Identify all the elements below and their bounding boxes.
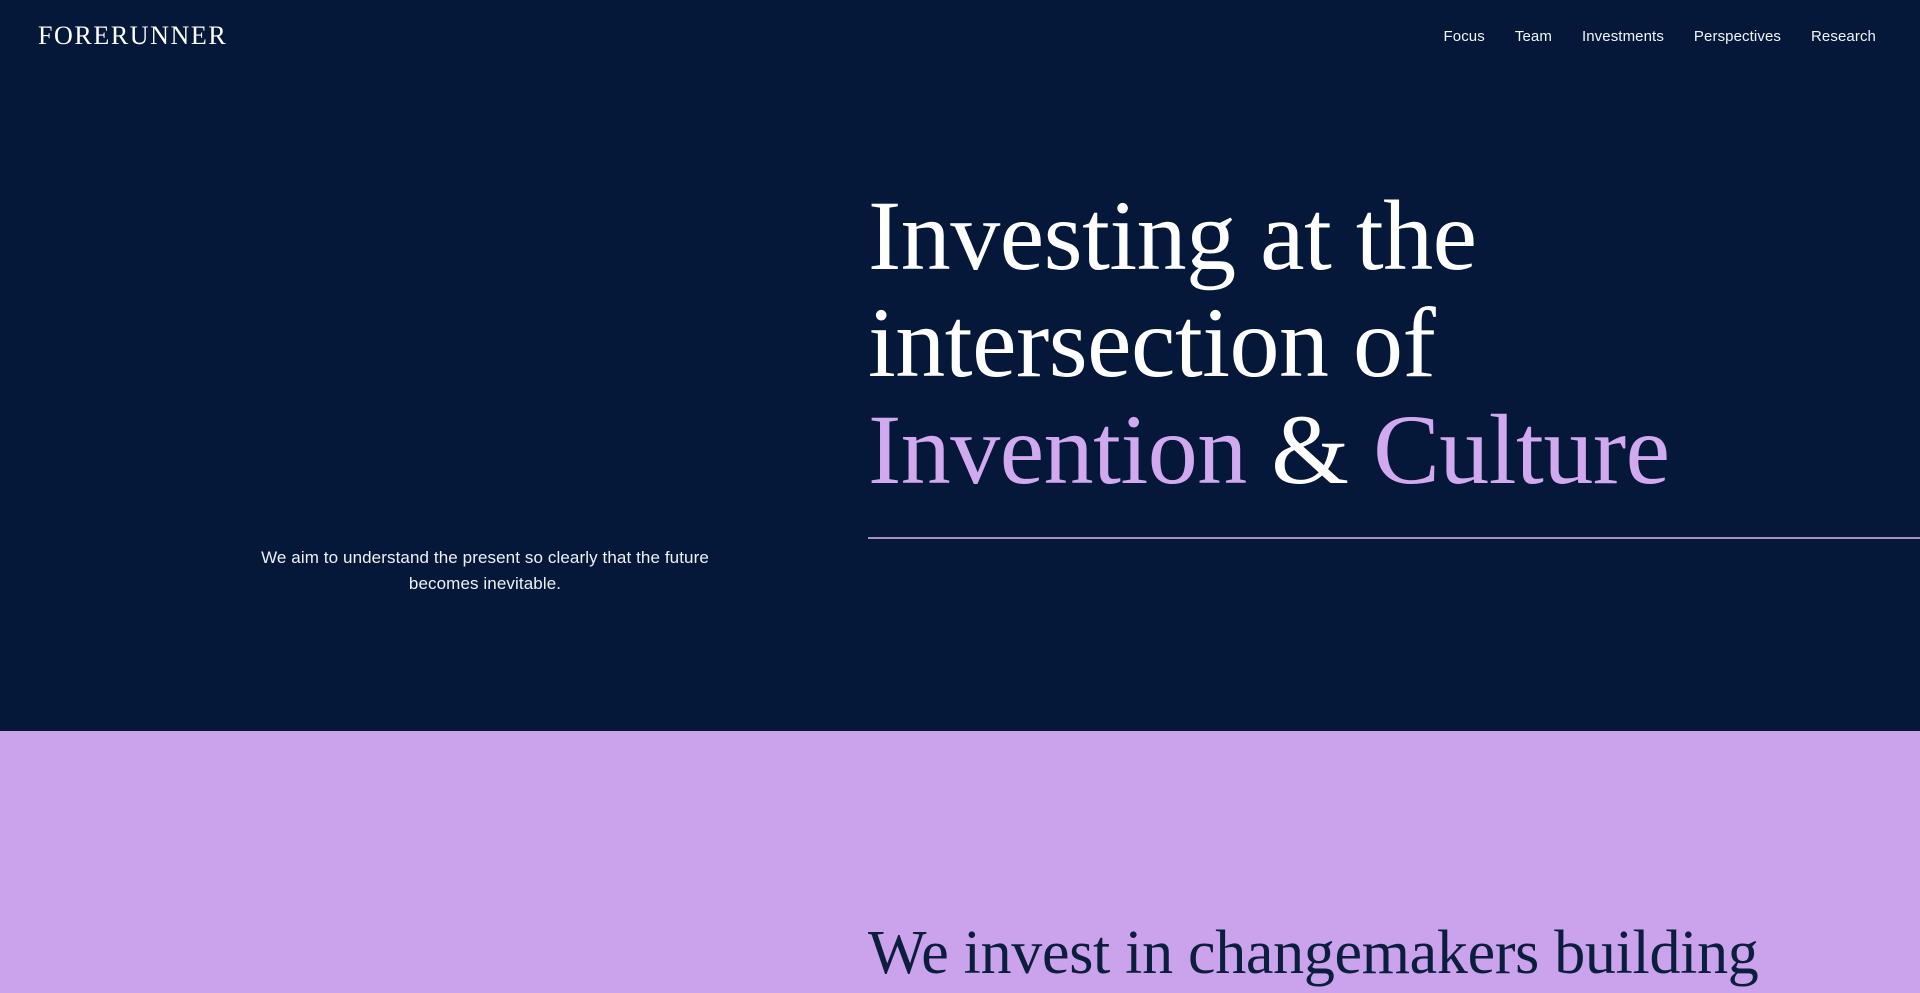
landing-page: FORERUNNER Focus Team Investments Perspe… <box>0 0 1920 993</box>
headline-accent-invention: Invention <box>868 394 1247 505</box>
nav-item-perspectives[interactable]: Perspectives <box>1694 29 1781 44</box>
main-navigation: Focus Team Investments Perspectives Rese… <box>1444 29 1877 44</box>
purple-section: We invest in changemakers building a def… <box>0 731 1920 993</box>
nav-item-research[interactable]: Research <box>1811 29 1876 44</box>
headline-accent-culture: Culture <box>1373 394 1669 505</box>
nav-item-investments[interactable]: Investments <box>1582 29 1664 44</box>
site-logo[interactable]: FORERUNNER <box>38 23 227 49</box>
headline-line-1: Investing at the <box>868 182 1920 289</box>
hero-headline: Investing at the intersection of Inventi… <box>868 182 1920 503</box>
hero-divider <box>868 537 1920 539</box>
purple-heading-line-2: a defining companies <box>868 989 1920 993</box>
purple-heading-line-1: We invest in changemakers building <box>868 918 1920 989</box>
headline-line-2: intersection of <box>868 289 1920 396</box>
hero-subtitle: We aim to understand the present so clea… <box>258 545 712 596</box>
nav-item-team[interactable]: Team <box>1515 29 1552 44</box>
purple-section-heading: We invest in changemakers building a def… <box>868 918 1920 993</box>
headline-ampersand: & <box>1247 394 1373 505</box>
headline-line-3: Invention & Culture <box>868 396 1920 503</box>
hero-section: FORERUNNER Focus Team Investments Perspe… <box>0 0 1920 731</box>
site-header: FORERUNNER Focus Team Investments Perspe… <box>0 0 1920 72</box>
nav-item-focus[interactable]: Focus <box>1444 29 1485 44</box>
